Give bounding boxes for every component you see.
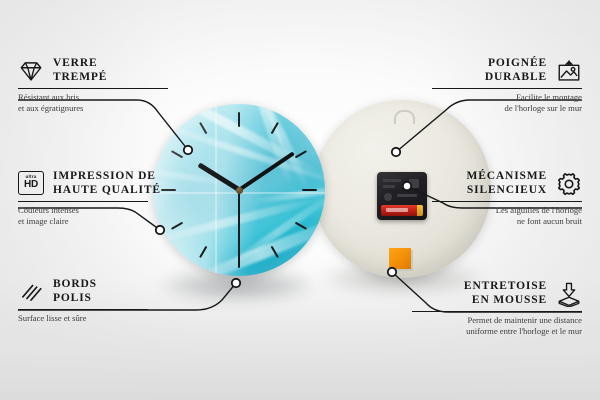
clock-tick-1	[238, 122, 279, 191]
face-pattern-streak	[153, 104, 324, 178]
callout-desc-line1: Facilite le montage	[432, 92, 582, 103]
callout-desc-line1: Couleurs intenses	[18, 205, 148, 216]
mechanism-detail	[397, 194, 417, 197]
callout-desc-line2: et image claire	[18, 216, 148, 227]
callout-title: HAUTE QUALITÉ	[53, 184, 161, 198]
framed-picture-hanger-icon	[556, 58, 582, 84]
callout-title: VERRE	[53, 57, 107, 71]
callout-desc-line1: Permet de maintenir une distance	[412, 315, 582, 326]
ultra-hd-bottom-text: HD	[24, 180, 38, 190]
clock-tick-2	[239, 150, 308, 191]
face-pattern-streak	[253, 104, 314, 194]
mechanism-tab	[396, 172, 409, 175]
battery-terminal	[417, 205, 423, 216]
callout-rule	[432, 88, 582, 89]
callout-verre-trempe: VERRE TREMPÉ Résistant aux bris et aux é…	[18, 57, 168, 113]
face-pattern-streak	[239, 104, 297, 189]
wall-clock-front-face	[153, 104, 325, 276]
face-pattern-streak	[153, 118, 325, 190]
callout-rule	[432, 201, 582, 202]
callout-desc-line2: ne font aucun bruit	[432, 216, 582, 227]
gear-icon	[556, 171, 582, 197]
clock-tick-4	[239, 189, 308, 230]
clock-tick-8	[171, 189, 240, 230]
callout-title: POLIS	[53, 292, 97, 306]
face-pattern-streak	[153, 166, 247, 189]
clock-tick-7	[199, 190, 240, 259]
callout-desc-line2: et aux égratignures	[18, 103, 168, 114]
callout-mecanisme-silencieux: MÉCANISME SILENCIEUX Les aiguilles de l'…	[432, 170, 582, 226]
callout-title: POIGNÉE	[485, 57, 547, 71]
callout-rule	[18, 309, 148, 310]
callout-rule	[18, 201, 148, 202]
callout-entretoise-en-mousse: ENTRETOISE EN MOUSSE Permet de maintenir…	[412, 280, 582, 336]
foam-spacer-icon	[556, 281, 582, 307]
glass-reflection	[153, 104, 325, 276]
callout-title: DURABLE	[485, 71, 547, 85]
mechanism-detail	[383, 179, 401, 182]
clock-tick-12	[238, 112, 240, 190]
callout-desc-line2: uniforme entre l'horloge et le mur	[412, 326, 582, 337]
callout-rule	[412, 311, 582, 312]
mechanism-detail	[384, 193, 392, 201]
foam-spacer	[389, 248, 411, 269]
callout-title: MÉCANISME	[467, 170, 548, 184]
clock-tick-9	[161, 189, 239, 191]
face-pattern-streak	[220, 183, 325, 274]
face-pattern-streak	[153, 193, 325, 248]
callout-bords-polis: BORDS POLIS Surface lisse et sûre	[18, 278, 148, 324]
clock-second-hand	[238, 190, 240, 262]
ultra-hd-icon: ultra HD	[18, 171, 44, 197]
callout-desc-line2: de l'horloge sur le mur	[432, 103, 582, 114]
hanger-hook	[394, 110, 415, 124]
clock-tick-11	[199, 122, 240, 191]
callout-title: ENTRETOISE	[464, 280, 547, 294]
clock-tick-10	[171, 150, 240, 191]
face-pattern-streak	[187, 213, 325, 276]
product-infographic: VERRE TREMPÉ Résistant aux bris et aux é…	[0, 0, 600, 400]
callout-desc-line1: Résistant aux bris	[18, 92, 168, 103]
clock-mechanism	[377, 172, 427, 220]
callout-poignee-durable: POIGNÉE DURABLE Facilite le montage de l…	[432, 57, 582, 113]
callout-desc-line1: Surface lisse et sûre	[18, 313, 148, 324]
clock-tick-6	[238, 190, 240, 268]
face-pattern-streak	[249, 182, 325, 206]
callout-title: BORDS	[53, 278, 97, 292]
face-pattern-crossline	[215, 104, 217, 276]
callout-impression-haute-qualite: ultra HD IMPRESSION DE HAUTE QUALITÉ Cou…	[18, 170, 148, 226]
mechanism-detail	[409, 179, 419, 188]
clock-hour-hand	[197, 162, 240, 192]
mechanism-detail	[383, 185, 395, 188]
polished-edges-icon	[18, 279, 44, 305]
callout-title: TREMPÉ	[53, 71, 107, 85]
callout-desc-line1: Les aiguilles de l'horloge	[432, 205, 582, 216]
battery-label	[386, 208, 408, 212]
callout-title: EN MOUSSE	[464, 294, 547, 308]
clock-minute-hand	[238, 151, 295, 191]
leader-endpoint-3	[232, 279, 240, 287]
battery	[381, 205, 423, 216]
diamond-icon	[18, 58, 44, 84]
callout-rule	[18, 88, 168, 89]
callout-title: IMPRESSION DE	[53, 170, 161, 184]
clock-hand-cap	[236, 187, 243, 194]
clock-tick-3	[239, 189, 317, 191]
face-pattern-crossline	[153, 192, 325, 194]
clock-tick-5	[238, 190, 279, 259]
callout-title: SILENCIEUX	[467, 184, 548, 198]
